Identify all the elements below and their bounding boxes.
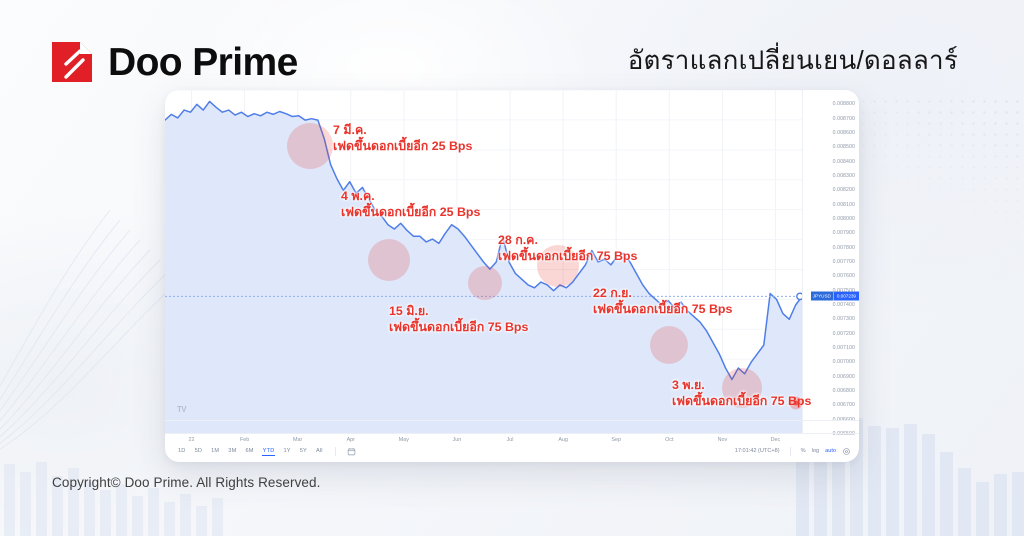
- toolbar-divider: [335, 447, 336, 456]
- doo-prime-logo-icon: [50, 40, 94, 84]
- range-button-1d[interactable]: 1D: [177, 447, 187, 455]
- brand-logo: Doo Prime: [50, 40, 298, 84]
- brand-wordmark: Doo Prime: [108, 43, 298, 82]
- tradingview-logo-icon[interactable]: TV: [177, 405, 186, 414]
- toolbar-divider: [790, 447, 791, 456]
- price-badge-symbol: JPYUSD: [811, 292, 834, 301]
- annotation-date: 22 ก.ย.: [593, 285, 732, 301]
- annotation-end-marker: [790, 397, 803, 410]
- price-tick: 0.007600: [833, 273, 855, 279]
- annotation-body: เฟดขึ้นดอกเบี้ยอีก 75 Bps: [389, 319, 528, 335]
- price-tick: 0.007500: [833, 288, 855, 294]
- price-tick: 0.008800: [833, 101, 855, 107]
- brand-name-primary: Doo: [108, 41, 182, 84]
- annotation-body: เฟดขึ้นดอกเบี้ยอีก 75 Bps: [593, 301, 732, 317]
- page-title: อัตราแลกเปลี่ยนเยน/ดอลลาร์: [628, 40, 958, 81]
- brand-name-secondary: Prime: [192, 41, 297, 84]
- chart-card: JPYUSD 0.007239 0.0088000.0087000.008600…: [165, 90, 859, 462]
- annotation-date: 15 มิ.ย.: [389, 303, 528, 319]
- annotation-may-4: 4 พ.ค.เฟดขึ้นดอกเบี้ยอีก 25 Bps: [341, 188, 480, 221]
- price-tick: 0.008500: [833, 144, 855, 150]
- range-selector[interactable]: 1D5D1M3M6MYTD1Y5YAll: [177, 447, 356, 456]
- price-tick: 0.008200: [833, 187, 855, 193]
- price-tick: 0.007200: [833, 331, 855, 337]
- range-button-5y[interactable]: 5Y: [299, 447, 308, 455]
- annotation-body: เฟดขึ้นดอกเบี้ยอีก 25 Bps: [341, 204, 480, 220]
- range-button-1y[interactable]: 1Y: [282, 447, 291, 455]
- annotation-date: 4 พ.ค.: [341, 188, 480, 204]
- price-tick: 0.008100: [833, 202, 855, 208]
- price-tick: 0.007800: [833, 245, 855, 251]
- log-toggle[interactable]: log: [812, 448, 819, 454]
- price-tick: 0.007100: [833, 345, 855, 351]
- price-tick: 0.006900: [833, 374, 855, 380]
- price-tick: 0.008400: [833, 159, 855, 165]
- auto-toggle[interactable]: auto: [825, 448, 836, 454]
- price-tick: 0.008600: [833, 130, 855, 136]
- annotation-mar-7: 7 มี.ค.เฟดขึ้นดอกเบี้ยอีก 25 Bps: [333, 122, 472, 155]
- gear-icon[interactable]: [842, 447, 851, 456]
- price-tick: 0.007400: [833, 302, 855, 308]
- time-scale[interactable]: 22FebMarAprMayJunJulAugSepOctNovDec: [165, 433, 802, 434]
- page-root: Doo Prime อัตราแลกเปลี่ยนเยน/ดอลลาร์ JPY…: [0, 0, 1024, 536]
- range-button-all[interactable]: All: [315, 447, 324, 455]
- annotation-sep-22: 22 ก.ย.เฟดขึ้นดอกเบี้ยอีก 75 Bps: [593, 285, 732, 318]
- range-button-6m[interactable]: 6M: [244, 447, 254, 455]
- annotation-body: เฟดขึ้นดอกเบี้ยอีก 25 Bps: [333, 138, 472, 154]
- chart-clock: 17:01:42 (UTC+8): [735, 448, 780, 454]
- percent-toggle[interactable]: %: [801, 448, 806, 454]
- annotation-date: 28 ก.ค.: [498, 232, 637, 248]
- range-button-ytd[interactable]: YTD: [262, 447, 276, 456]
- calendar-icon[interactable]: [347, 447, 356, 456]
- range-button-3m[interactable]: 3M: [227, 447, 237, 455]
- annotation-marker-mar-7: [287, 123, 333, 169]
- price-tick: 0.007000: [833, 359, 855, 365]
- copyright-text: Copyright© Doo Prime. All Rights Reserve…: [52, 475, 321, 490]
- annotation-body: เฟดขึ้นดอกเบี้ยอีก 75 Bps: [498, 248, 637, 264]
- toolbar-right-group: 17:01:42 (UTC+8) % log auto: [735, 447, 851, 456]
- price-tick: 0.008300: [833, 173, 855, 179]
- price-tick: 0.006800: [833, 388, 855, 394]
- price-tick: 0.008700: [833, 116, 855, 122]
- price-tick: 0.008000: [833, 216, 855, 222]
- annotation-jul-28: 28 ก.ค.เฟดขึ้นดอกเบี้ยอีก 75 Bps: [498, 232, 637, 265]
- annotation-marker-jun-15: [468, 266, 502, 300]
- price-tick: 0.007900: [833, 230, 855, 236]
- time-scale-strip: [165, 420, 859, 434]
- annotation-marker-sep-22: [650, 326, 688, 364]
- annotation-marker-may-4: [368, 239, 410, 281]
- price-tick: 0.007700: [833, 259, 855, 265]
- price-tick: 0.007300: [833, 316, 855, 322]
- range-button-1m[interactable]: 1M: [210, 447, 220, 455]
- annotation-date: 7 มี.ค.: [333, 122, 472, 138]
- range-button-5d[interactable]: 5D: [194, 447, 204, 455]
- annotation-date: 3 พ.ย.: [672, 377, 811, 393]
- chart-toolbar: 1D5D1M3M6MYTD1Y5YAll 17:01:42 (UTC+8) % …: [165, 440, 859, 462]
- price-tick: 0.006700: [833, 402, 855, 408]
- annotation-jun-15: 15 มิ.ย.เฟดขึ้นดอกเบี้ยอีก 75 Bps: [389, 303, 528, 336]
